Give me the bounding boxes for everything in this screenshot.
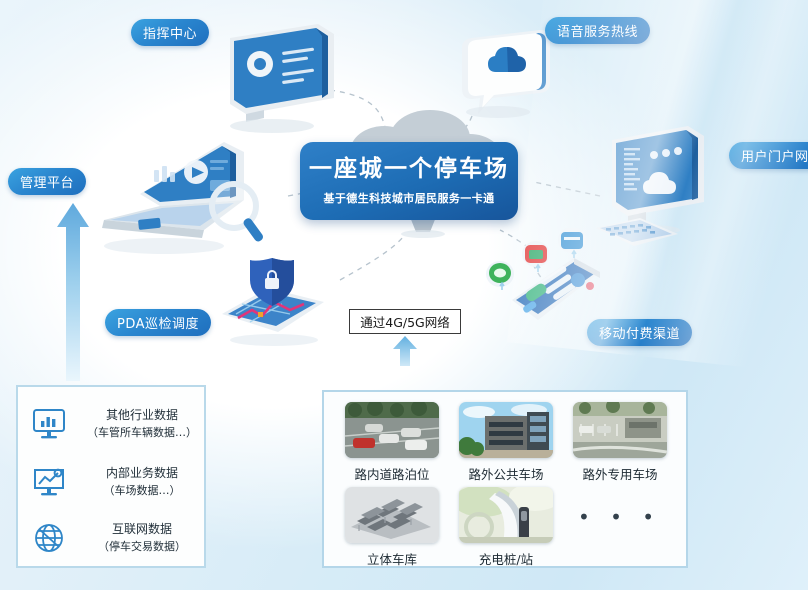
payment-badge-wechat xyxy=(486,261,514,287)
parking-types-panel: 路内道路泊位 路外公共车场 xyxy=(322,390,688,568)
data-source-detail: （车管所车辆数据…） xyxy=(80,425,204,441)
data-source-detail: （车场数据…） xyxy=(80,483,204,499)
multi-level-garage-photo xyxy=(345,487,439,543)
parking-type-item[interactable]: 路外专用车场 xyxy=(566,402,674,483)
label-user-portal[interactable]: 用户门户网站 xyxy=(729,142,808,169)
parking-type-caption: 充电桩/站 xyxy=(452,549,560,568)
payment-badge-alipay xyxy=(522,241,550,267)
bar-chart-monitor-icon xyxy=(18,408,80,440)
parking-type-item[interactable]: 立体车库 xyxy=(338,487,446,568)
parking-type-item[interactable]: 充电桩/站 xyxy=(452,487,560,568)
line-chart-monitor-icon xyxy=(18,466,80,498)
data-source-title: 其他行业数据 xyxy=(80,407,204,424)
network-label-box: 通过4G/5G网络 xyxy=(349,309,461,334)
data-source-detail: （停车交易数据） xyxy=(80,539,204,555)
main-banner: 一座城一个停车场 基于德生科技城市居民服务一卡通 xyxy=(300,142,518,220)
parking-type-item[interactable]: 路外公共车场 xyxy=(452,402,560,483)
data-source-row[interactable]: 其他行业数据 （车管所车辆数据…） xyxy=(18,395,208,453)
public-off-street-lot-photo xyxy=(459,402,553,458)
more-items-ellipsis: • • • xyxy=(578,505,661,529)
parking-type-caption: 路外专用车场 xyxy=(566,464,674,483)
network-up-arrow xyxy=(392,336,418,366)
ev-charging-station-photo xyxy=(459,487,553,543)
data-source-title: 互联网数据 xyxy=(80,521,204,538)
data-sources-panel: 其他行业数据 （车管所车辆数据…） 内部业务数据 （车场数据…） xyxy=(16,385,206,568)
user-portal-desktop xyxy=(592,124,728,252)
label-pda-dispatch[interactable]: PDA巡检调度 xyxy=(105,309,211,336)
mobile-payment-phone xyxy=(478,228,606,340)
data-flow-up-arrow xyxy=(56,203,90,381)
banner-subtitle: 基于德生科技城市居民服务一卡通 xyxy=(324,190,495,206)
payment-badge-card xyxy=(558,228,586,253)
globe-icon xyxy=(18,521,80,555)
on-street-parking-photo xyxy=(345,402,439,458)
parking-type-item[interactable]: 路内道路泊位 xyxy=(338,402,446,483)
parking-type-caption: 路外公共车场 xyxy=(452,464,560,483)
data-source-title: 内部业务数据 xyxy=(80,465,204,482)
parking-type-caption: 立体车库 xyxy=(338,549,446,568)
parking-type-caption: 路内道路泊位 xyxy=(338,464,446,483)
label-mobile-payment[interactable]: 移动付费渠道 xyxy=(587,319,692,346)
dedicated-off-street-lot-photo xyxy=(573,402,667,458)
pda-tablet-shield xyxy=(212,252,334,348)
label-voice-hotline[interactable]: 语音服务热线 xyxy=(545,17,650,44)
label-management-platform[interactable]: 管理平台 xyxy=(8,168,86,195)
data-source-row[interactable]: 内部业务数据 （车场数据…） xyxy=(18,453,208,511)
architecture-diagram: 一座城一个停车场 基于德生科技城市居民服务一卡通 xyxy=(0,0,808,590)
data-source-row[interactable]: 互联网数据 （停车交易数据） xyxy=(18,509,208,567)
voice-hotline-bubble xyxy=(452,26,558,120)
management-laptop xyxy=(84,134,274,258)
banner-title: 一座城一个停车场 xyxy=(309,156,509,182)
label-command-center[interactable]: 指挥中心 xyxy=(131,19,209,46)
